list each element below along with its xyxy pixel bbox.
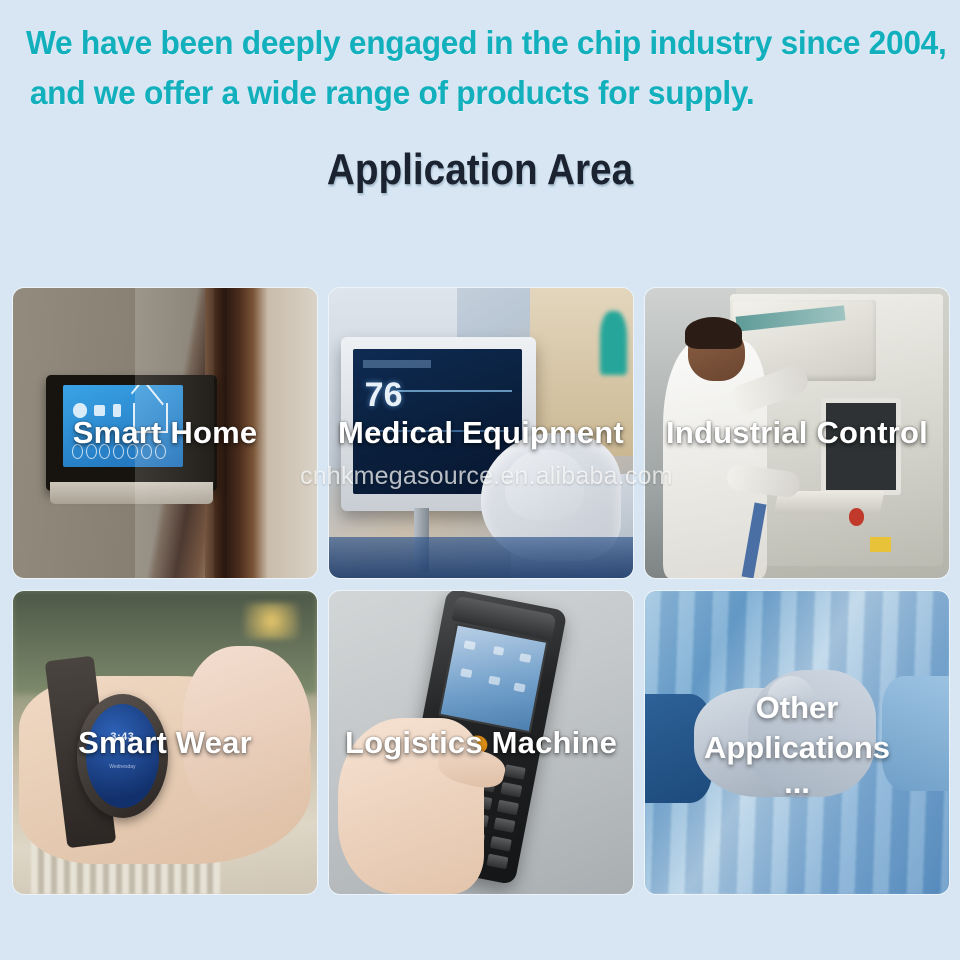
terminal-app-icon (464, 640, 476, 650)
keypad-key (501, 782, 523, 798)
machine-monitor (821, 398, 901, 495)
smartwatch-device: 3:43 Wednesday (77, 694, 168, 818)
terminal-app-icon (461, 669, 473, 679)
temperature-icon (94, 405, 105, 416)
bokeh-light (244, 603, 299, 639)
card-logistics-machine[interactable]: Logistics Machine (329, 591, 633, 894)
card-smart-home[interactable]: Smart Home (13, 288, 317, 578)
watch-time: 3:43 (86, 731, 159, 743)
gloved-hand-secondary (505, 450, 584, 520)
headline-line-1: We have been deeply engaged in the chip … (26, 18, 898, 68)
hand (183, 646, 311, 816)
handshake-thumb (767, 676, 816, 724)
ecg-waveform (397, 390, 512, 392)
terminal-screen (438, 624, 549, 734)
warning-label (870, 537, 891, 552)
lock-icon (99, 444, 110, 459)
terminal-app-icon (513, 683, 525, 693)
heart-rate-value: 76 (365, 378, 403, 412)
spo2-waveform (366, 430, 508, 432)
card-medical-equipment[interactable]: 76 Medical Equipment (329, 288, 633, 578)
holding-hand (338, 718, 484, 894)
blue-surgical-drape (329, 537, 633, 578)
keypad-key (504, 764, 526, 780)
monitor-status-bar (363, 360, 431, 369)
fan-icon (86, 444, 97, 459)
wooden-door (226, 288, 317, 578)
weather-icon (73, 403, 87, 418)
terminal-app-icon (519, 653, 531, 663)
teal-equipment (600, 311, 627, 375)
suit-sleeve-right (882, 676, 949, 791)
light-icon (72, 444, 83, 459)
keypad-key (494, 818, 516, 834)
watch-face: 3:43 Wednesday (86, 704, 159, 808)
emergency-stop-button (849, 508, 864, 525)
keypad-key (497, 800, 519, 816)
humidity-icon (113, 404, 120, 417)
technician-hair (685, 317, 743, 349)
keypad-key (490, 836, 512, 852)
card-smart-wear[interactable]: 3:43 Wednesday Smart Wear (13, 591, 317, 894)
application-card-grid: Smart Home 76 Medical Equipment (13, 288, 949, 894)
card-industrial-control[interactable]: Industrial Control (645, 288, 949, 578)
terminal-app-icon (493, 646, 505, 656)
light-reflection (135, 288, 214, 578)
headline-block: We have been deeply engaged in the chip … (0, 0, 960, 118)
terminal-app-icon (489, 676, 501, 686)
camera-icon (113, 444, 124, 459)
card-other-applications[interactable]: Other Applications ... (645, 591, 949, 894)
headline-line-2: and we offer a wide range of products fo… (26, 68, 898, 118)
keypad-key (487, 853, 509, 869)
watch-date: Wednesday (86, 764, 159, 770)
application-area-banner: We have been deeply engaged in the chip … (0, 0, 960, 960)
page-title: Application Area (58, 146, 903, 194)
